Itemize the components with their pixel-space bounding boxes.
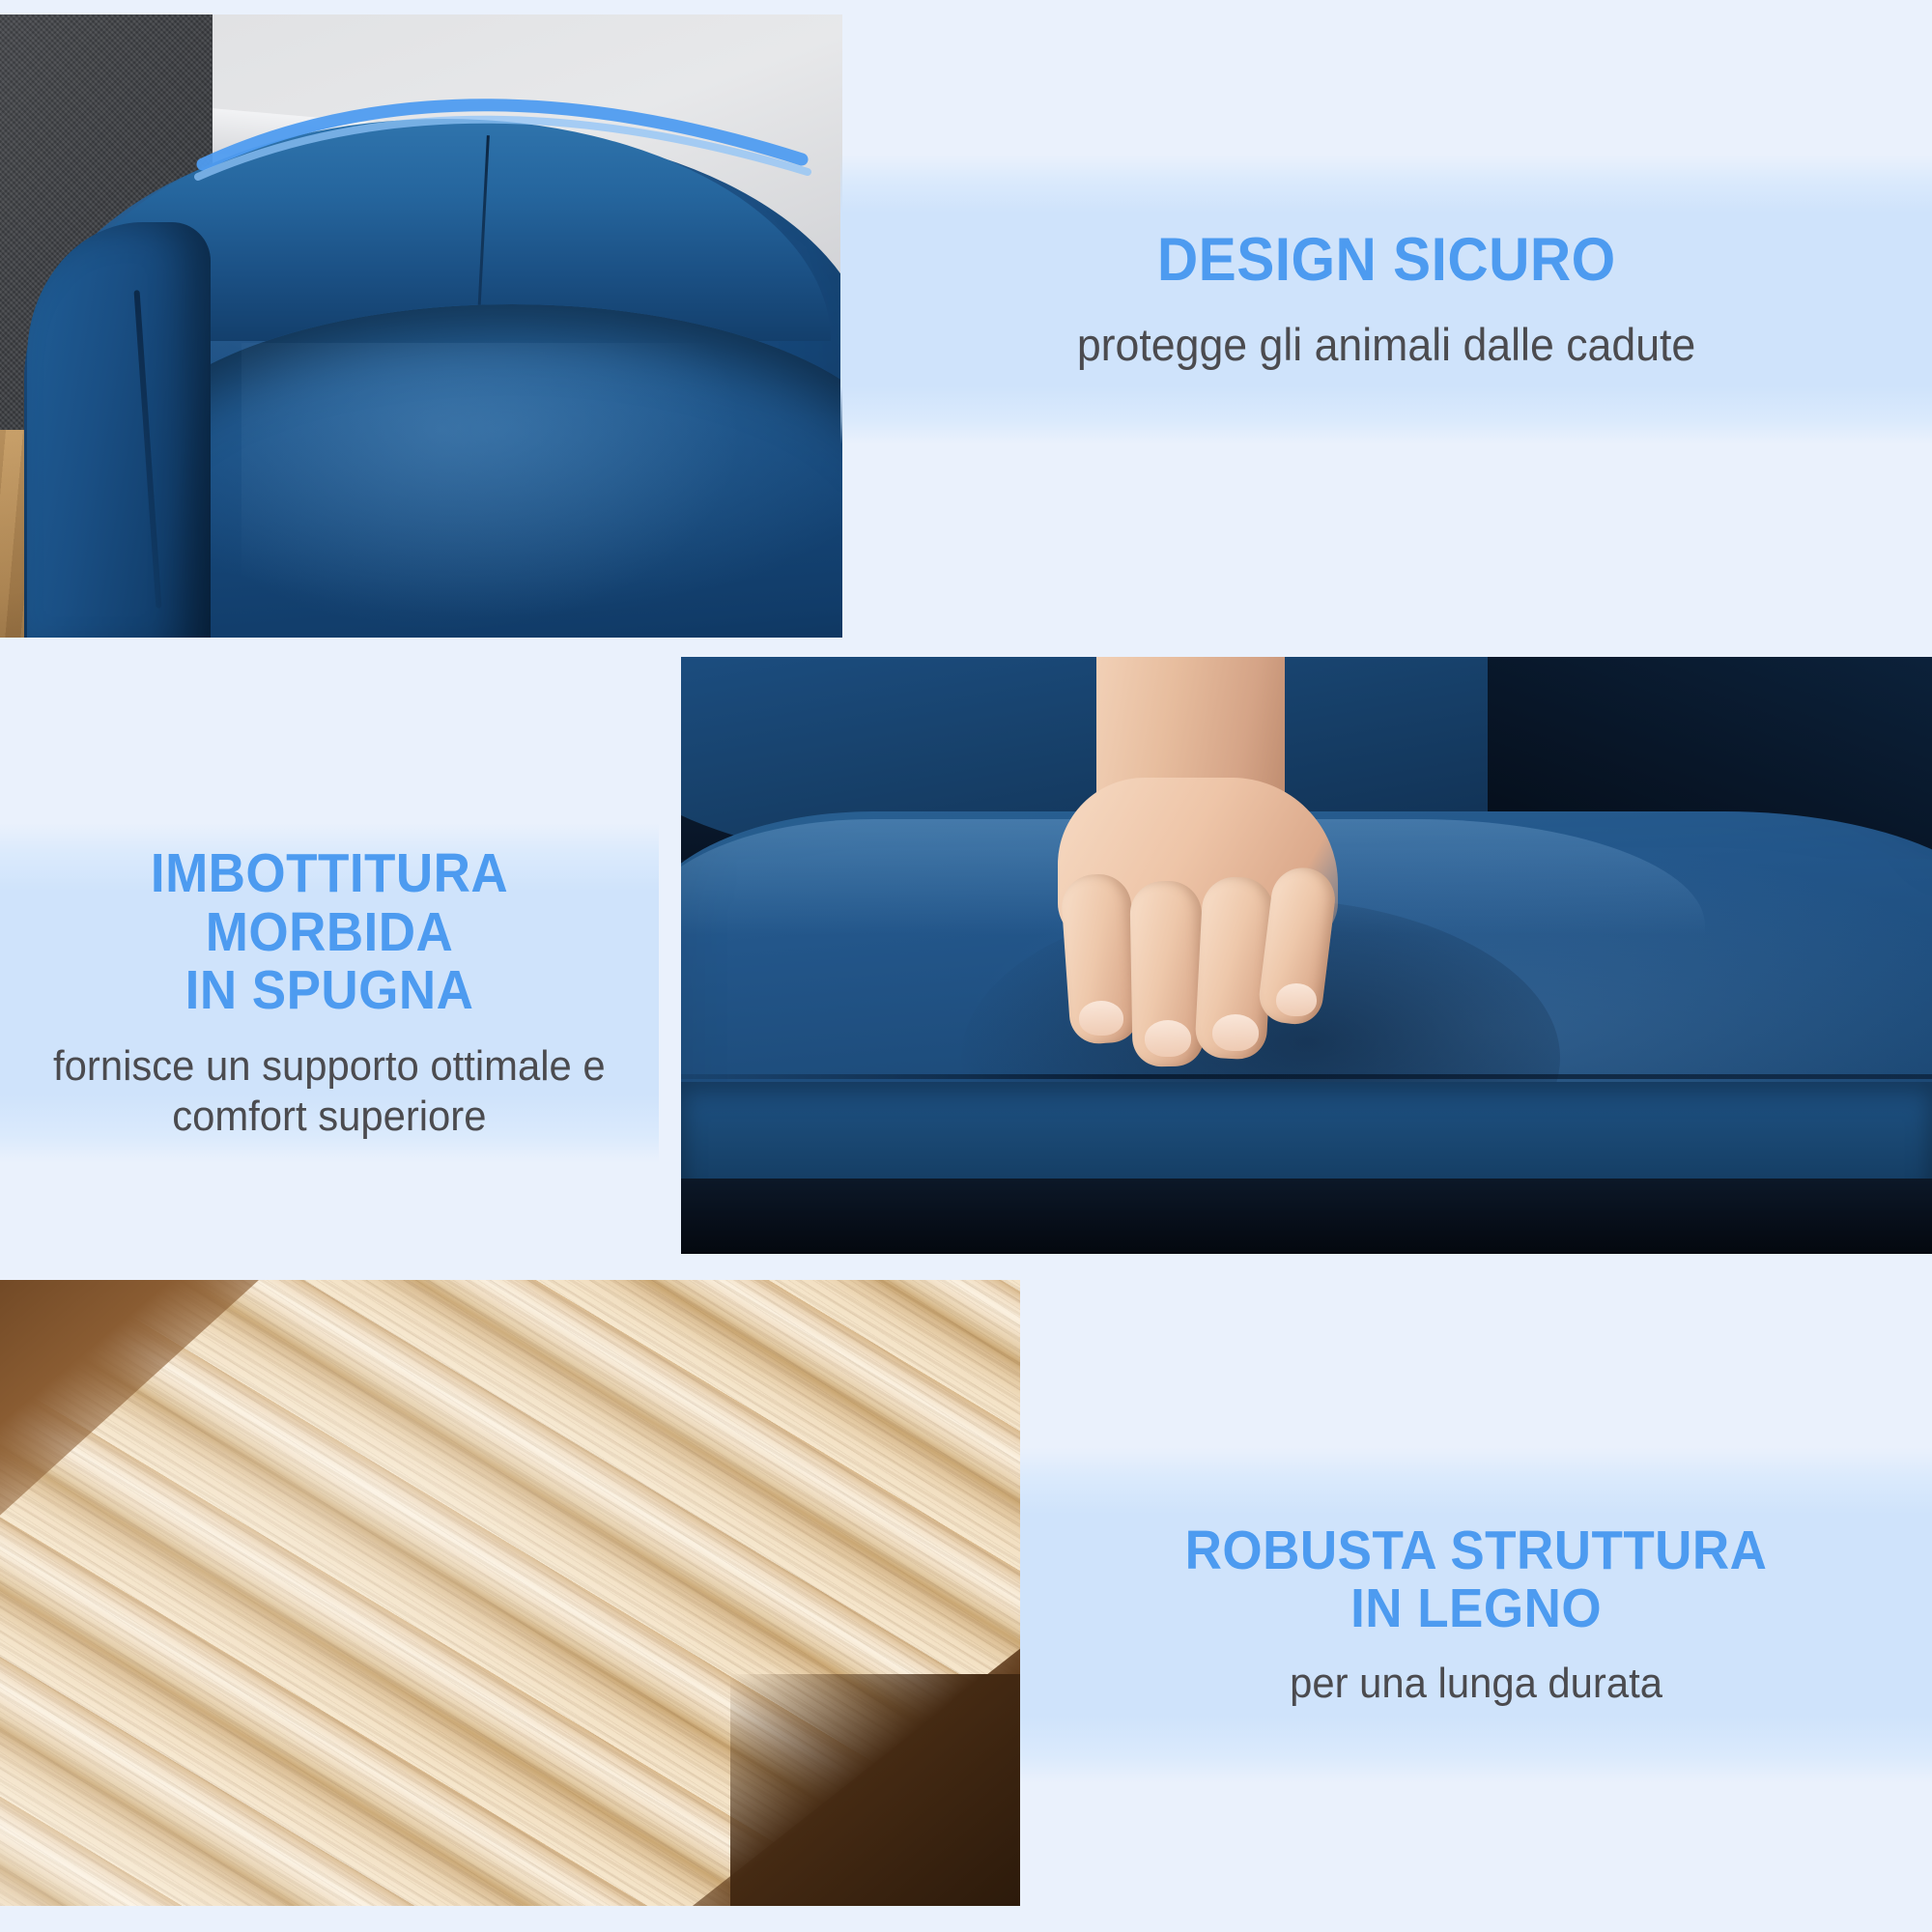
photo-wooden-slats: [0, 1280, 1020, 1906]
cushion-seam: [681, 1074, 1932, 1079]
dark-floor-corner: [730, 1674, 1020, 1906]
fingernail: [1276, 983, 1317, 1016]
photo-pet-sofa: [0, 14, 842, 638]
feature-subline: per una lunga durata: [1290, 1659, 1662, 1709]
feature-text-struttura-legno: ROBUSTA STRUTTURA IN LEGNO per una lunga…: [1020, 1447, 1932, 1783]
feature-subline: protegge gli animali dalle cadute: [1077, 318, 1695, 371]
feature-headline: DESIGN SICURO: [1157, 228, 1616, 293]
photo-hand-pressing-cushion: [681, 657, 1932, 1254]
hand: [990, 657, 1377, 1043]
feature-headline: ROBUSTA STRUTTURA IN LEGNO: [1185, 1521, 1768, 1638]
feature-text-design-sicuro: DESIGN SICURO protegge gli animali dalle…: [840, 155, 1932, 444]
infographic-page: DESIGN SICURO protegge gli animali dalle…: [0, 0, 1932, 1932]
sofa-base: [681, 1179, 1932, 1254]
fingernail: [1079, 1001, 1123, 1036]
feature-subline: fornisce un supporto ottimale e comfort …: [53, 1041, 606, 1142]
fingernail: [1212, 1014, 1259, 1051]
curved-arc-highlight-icon: [0, 14, 842, 638]
fingernail: [1145, 1020, 1191, 1057]
feature-headline: IMBOTTITURA MORBIDA IN SPUGNA: [23, 844, 636, 1019]
feature-text-imbottitura-morbida: IMBOTTITURA MORBIDA IN SPUGNA fornisce u…: [0, 823, 659, 1163]
